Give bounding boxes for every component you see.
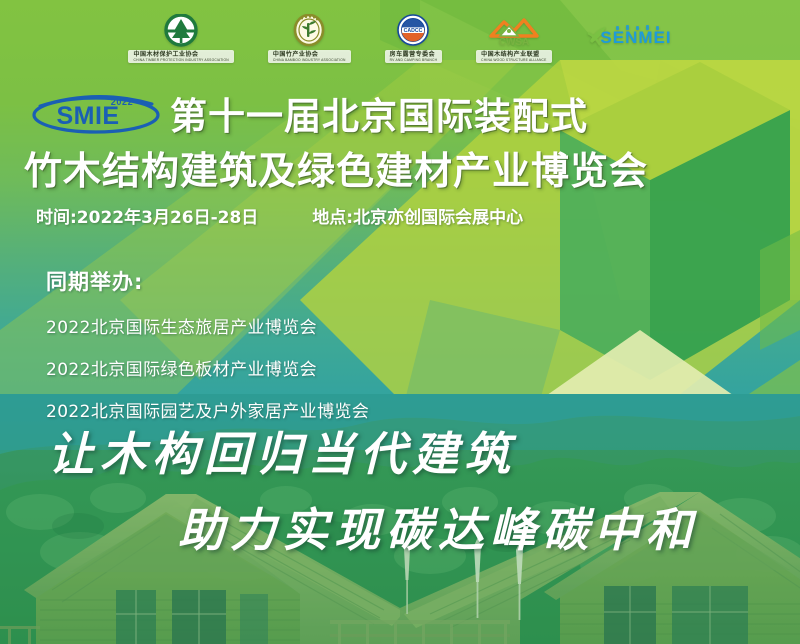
logo-caption: 中国竹产业协会 CHINA BAMBOO INDUSTRY ASSOCIATIO… [268, 50, 351, 63]
event-date: 时间:2022年3月26日-28日 [36, 203, 258, 228]
association-logo-strip: 中国木材保护工业协会 CHINA TIMBER PROTECTION INDUS… [0, 10, 800, 66]
slogan-line-1: 让木构回归当代建筑 [0, 418, 800, 484]
logo-cadcc-rv-camping-committee[interactable]: CADCC 房车露营专委会 RV AND CAMPING BRANCH [385, 14, 443, 63]
exhibition-poster: 中国木材保护工业协会 CHINA TIMBER PROTECTION INDUS… [0, 0, 800, 644]
event-meta: 时间:2022年3月26日-28日 地点:北京亦创国际会展中心 [36, 203, 523, 228]
concurrent-item: 2022北京国际生态旅居产业博览会 [46, 313, 369, 338]
event-venue: 地点:北京亦创国际会展中心 [312, 203, 523, 228]
slogan-block: 让木构回归当代建筑 助力实现碳达峰碳中和 [0, 418, 800, 560]
tree-shield-icon [161, 14, 201, 53]
senmei-wordmark-icon: SENMEI [586, 21, 672, 56]
logo-bamboo-industry-association[interactable]: 中国竹产业协会 CHINA BAMBOO INDUSTRY ASSOCIATIO… [268, 14, 351, 63]
logo-caption: 中国木材保护工业协会 CHINA TIMBER PROTECTION INDUS… [128, 50, 233, 63]
svg-text:CWSA: CWSA [499, 37, 530, 48]
logo-caption-sub: CHINA BAMBOO INDUSTRY ASSOCIATION [273, 58, 346, 62]
title-line-2: 竹木结构建筑及绿色建材产业博览会 [0, 140, 800, 195]
logo-caption-sub: CHINA TIMBER PROTECTION INDUSTRY ASSOCIA… [133, 58, 228, 62]
svg-text:CADCC: CADCC [404, 27, 423, 33]
svg-text:SENMEI: SENMEI [600, 28, 671, 47]
logo-cwsa-wood-structure-alliance[interactable]: CWSA 中国木结构产业联盟 CHINA WOOD STRUCTURE ALLI… [476, 14, 551, 63]
smie-logo[interactable]: SMIE 2022 [30, 90, 162, 136]
title-row: SMIE 2022 第十一届北京国际装配式 [0, 88, 800, 138]
cwsa-house-icon: CWSA [487, 14, 541, 53]
logo-caption: 房车露营专委会 RV AND CAMPING BRANCH [385, 50, 443, 63]
logo-caption-sub: CHINA WOOD STRUCTURE ALLIANCE [481, 58, 546, 62]
slogan-line-2: 助力实现碳达峰碳中和 [0, 494, 800, 560]
cadcc-badge-icon: CADCC [393, 14, 433, 53]
headline-block: SMIE 2022 第十一届北京国际装配式 竹木结构建筑及绿色建材产业博览会 [0, 88, 800, 195]
logo-caption: 中国木结构产业联盟 CHINA WOOD STRUCTURE ALLIANCE [476, 50, 551, 63]
concurrent-events: 同期举办: 2022北京国际生态旅居产业博览会 2022北京国际绿色板材产业博览… [46, 266, 369, 422]
bamboo-oval-icon [289, 14, 329, 53]
logo-caption-sub: RV AND CAMPING BRANCH [390, 58, 438, 62]
title-line-1: 第十一届北京国际装配式 [170, 86, 588, 140]
concurrent-heading: 同期举办: [46, 266, 369, 296]
logo-senmei[interactable]: SENMEI [586, 21, 672, 56]
logo-china-timber-protection-industry-association[interactable]: 中国木材保护工业协会 CHINA TIMBER PROTECTION INDUS… [128, 14, 233, 63]
smie-year: 2022 [111, 97, 133, 107]
concurrent-item: 2022北京国际绿色板材产业博览会 [46, 355, 369, 380]
